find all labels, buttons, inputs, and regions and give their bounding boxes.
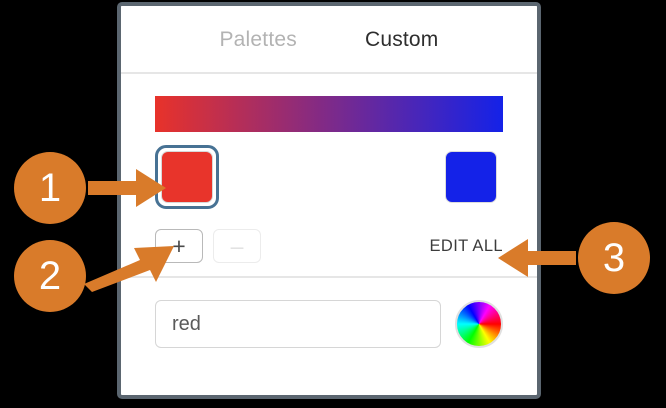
blue-color-stop[interactable] [439,148,503,206]
blue-color-stop-swatch[interactable] [445,151,497,203]
minus-icon: – [231,235,244,258]
gradient-preview-bar[interactable] [155,96,503,132]
stop-controls-row: + – EDIT ALL [121,216,537,276]
screenshot-root: Palettes Custom + – [0,0,666,408]
annotation-badge-2-label: 2 [39,254,61,299]
tab-palettes[interactable]: Palettes [219,29,296,50]
red-color-stop-swatch[interactable] [161,151,213,203]
edit-all-button[interactable]: EDIT ALL [429,237,503,256]
annotation-badge-2: 2 [14,240,86,312]
tab-custom[interactable]: Custom [365,29,439,50]
annotation-arrow-3 [496,236,576,280]
color-wheel-icon[interactable] [455,300,503,348]
tab-bar: Palettes Custom [121,6,537,72]
annotation-arrow-1 [88,166,168,210]
controls-divider [121,276,537,278]
annotation-badge-3: 3 [578,222,650,294]
color-name-input[interactable]: red [155,300,441,348]
annotation-badge-3-label: 3 [603,236,625,281]
annotation-arrow-2 [82,230,178,292]
color-stops-row [121,146,537,208]
remove-stop-button[interactable]: – [213,229,261,263]
annotation-badge-1-label: 1 [39,166,61,211]
gradient-preview-section [121,74,537,132]
color-picker-panel: Palettes Custom + – [117,2,541,399]
color-value-row: red [121,300,537,348]
annotation-badge-1: 1 [14,152,86,224]
